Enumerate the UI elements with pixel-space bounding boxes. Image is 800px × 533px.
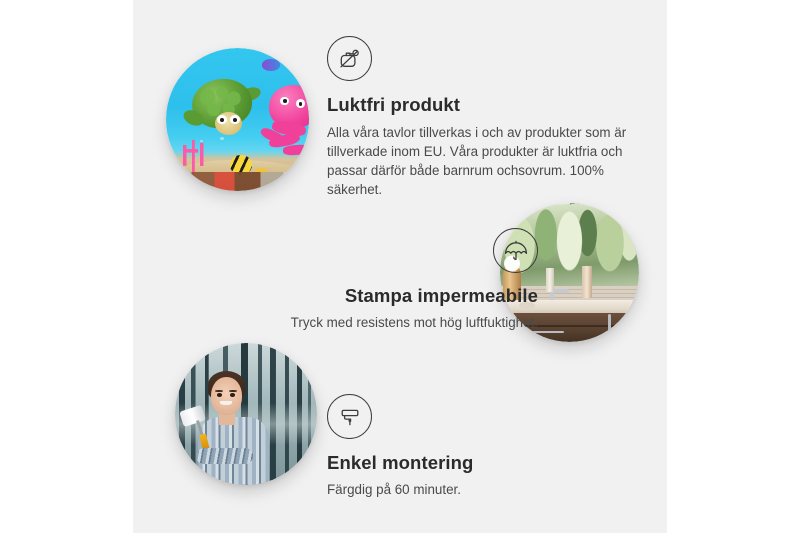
promo-infographic: Luktfri produkt Alla våra tavlor tillver… (0, 0, 800, 533)
feature-title: Enkel montering (327, 451, 627, 474)
eye (217, 393, 222, 396)
feature-title: Stampa impermeabile (193, 284, 538, 307)
cabinet-handle (629, 314, 632, 336)
feature-image-underwater-kids-illustration (166, 48, 309, 191)
feature-odour-free: Luktfri produkt Alla våra tavlor tillver… (327, 36, 637, 199)
feature-description: Tryck med resistens mot hög luftfuktighe… (193, 313, 538, 332)
bathroom-bottle (582, 266, 592, 298)
feature-image-woman-with-paint-roller-in-forest (175, 343, 317, 485)
bathroom-bottle (546, 268, 554, 292)
octopus-eye (280, 97, 289, 106)
purple-fish-icon (262, 59, 281, 70)
feature-description: Färgdig på 60 minuter. (327, 480, 627, 499)
umbrella-icon (493, 228, 538, 273)
smile (220, 401, 231, 405)
feature-title: Luktfri produkt (327, 93, 637, 116)
no-fragrance-icon (327, 36, 372, 81)
feature-easy-mounting: Enkel montering Färgdig på 60 minuter. (327, 394, 627, 499)
octopus-eye (296, 99, 305, 108)
crossed-arms (196, 448, 253, 464)
content-panel: Luktfri produkt Alla våra tavlor tillver… (133, 0, 667, 533)
turtle-eye (230, 115, 239, 124)
eye (230, 393, 235, 396)
feature-description: Alla våra tavlor tillverkas i och av pro… (327, 123, 632, 199)
scene-bottom-strip (166, 172, 309, 191)
feature-waterproof-print: Stampa impermeabile Tryck med resistens … (193, 228, 538, 332)
bubble-icon (220, 137, 223, 140)
paint-roller-icon (327, 394, 372, 439)
face (211, 377, 242, 415)
cabinet-handle (608, 314, 611, 336)
